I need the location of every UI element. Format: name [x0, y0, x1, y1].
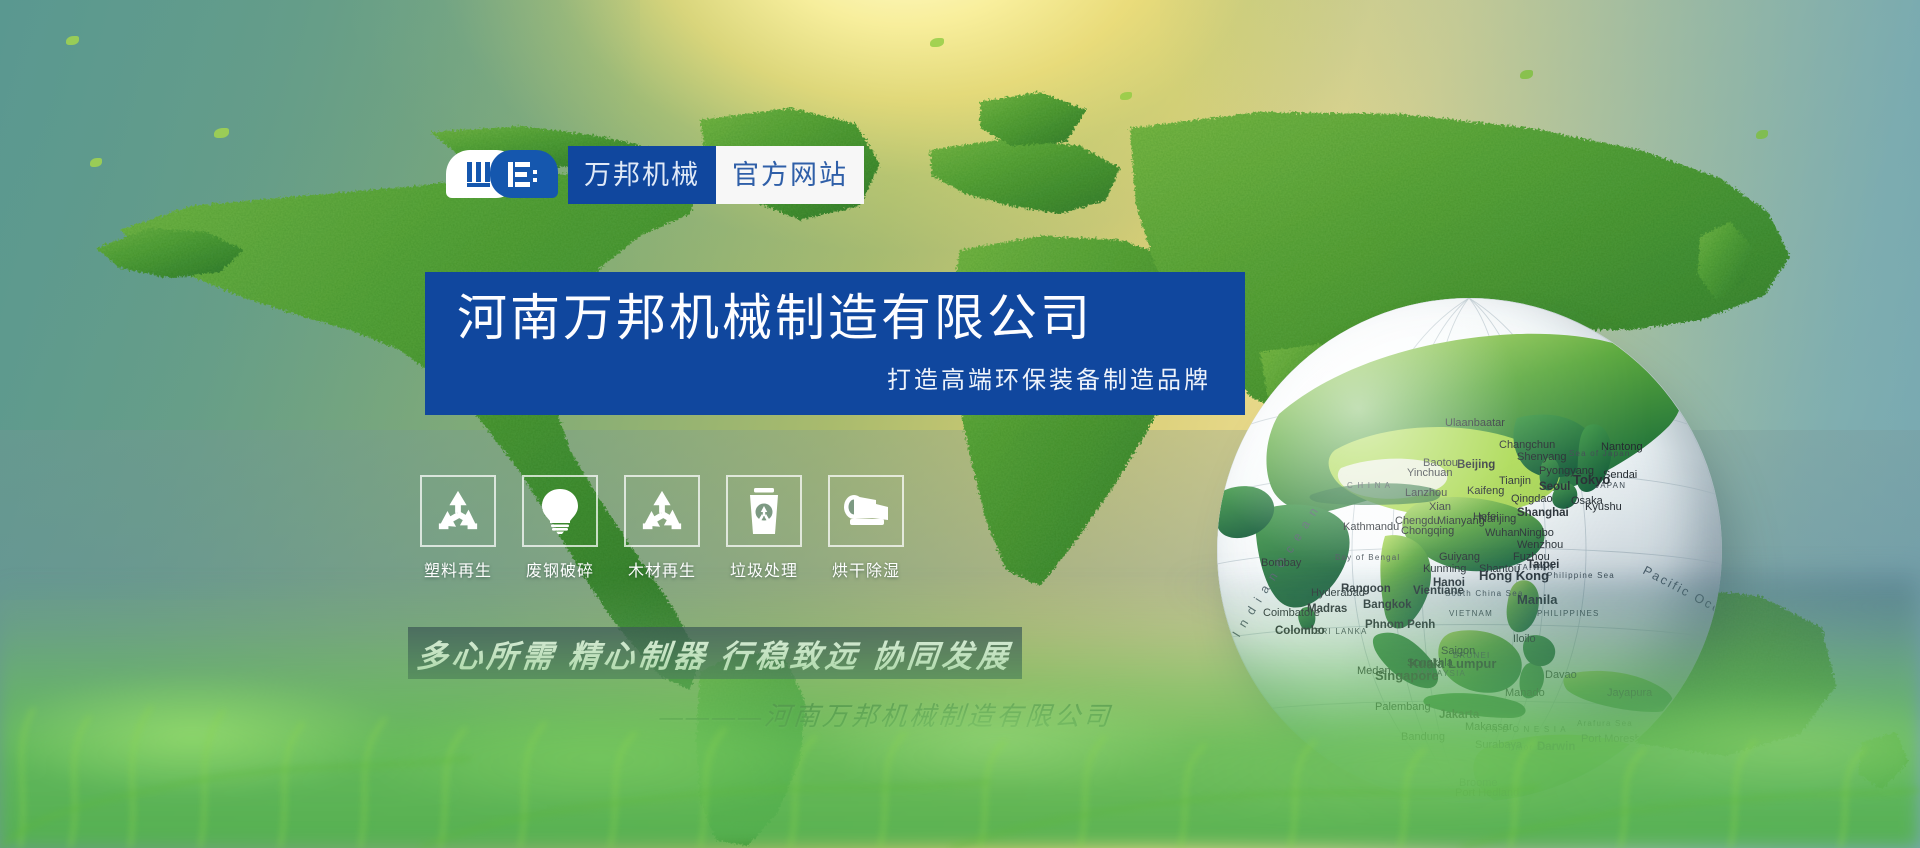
- svg-text:Xian: Xian: [1429, 501, 1451, 513]
- hero-title-panel: 河南万邦机械制造有限公司 打造高端环保装备制造品牌: [425, 272, 1245, 415]
- svg-text:Tianjin: Tianjin: [1499, 475, 1531, 487]
- svg-text:Baotou: Baotou: [1423, 457, 1458, 469]
- feature-item-scrap-steel-crushing[interactable]: 废钢破碎: [522, 475, 598, 581]
- lightbulb-icon: [539, 488, 581, 534]
- feature-icon-row: 塑料再生 废钢破碎: [420, 475, 904, 581]
- promo-banner: 万邦机械 官方网站 河南万邦机械制造有限公司 打造高端环保装备制造品牌 塑料再生: [0, 0, 1920, 848]
- feature-item-plastic-recycling[interactable]: 塑料再生: [420, 475, 496, 581]
- foreground-grass-blades: [0, 598, 1920, 848]
- svg-text:C H I N A: C H I N A: [1347, 481, 1391, 490]
- svg-text:Bombay: Bombay: [1261, 557, 1302, 569]
- svg-text:Kathmandu: Kathmandu: [1343, 521, 1399, 533]
- logo-bar[interactable]: 万邦机械 官方网站: [446, 146, 864, 204]
- svg-text:Lanzhou: Lanzhou: [1405, 487, 1447, 499]
- dryer-blower-icon: [842, 494, 890, 528]
- svg-text:Seoul: Seoul: [1539, 481, 1570, 493]
- svg-text:Nantong: Nantong: [1601, 441, 1643, 453]
- svg-text:Pyongyang: Pyongyang: [1539, 465, 1594, 477]
- svg-text:Shenyang: Shenyang: [1517, 451, 1567, 463]
- svg-text:Guiyang: Guiyang: [1439, 551, 1480, 563]
- feature-icon-box[interactable]: [522, 475, 598, 547]
- page-title: 河南万邦机械制造有限公司: [457, 292, 1211, 345]
- svg-text:Changchun: Changchun: [1499, 439, 1555, 451]
- recycle-icon: [639, 489, 685, 533]
- svg-text:Ulaanbaatar: Ulaanbaatar: [1445, 417, 1505, 429]
- svg-text:Hefei: Hefei: [1473, 511, 1499, 523]
- svg-text:Wuhan: Wuhan: [1485, 527, 1520, 539]
- brand-name-badge[interactable]: 万邦机械: [568, 146, 716, 204]
- page-subtitle: 打造高端环保装备制造品牌: [457, 360, 1211, 395]
- wanbang-chat-bubble-logo[interactable]: [446, 146, 558, 202]
- feature-icon-box[interactable]: [828, 475, 904, 547]
- svg-text:Wenzhou: Wenzhou: [1517, 539, 1563, 551]
- svg-text:Shanghai: Shanghai: [1517, 507, 1569, 519]
- official-site-badge[interactable]: 官方网站: [716, 146, 864, 204]
- svg-text:Kyushu: Kyushu: [1585, 501, 1622, 513]
- svg-text:Fuzhou: Fuzhou: [1513, 551, 1550, 563]
- feature-item-waste-treatment[interactable]: 垃圾处理: [726, 475, 802, 581]
- svg-text:Sendai: Sendai: [1603, 469, 1637, 481]
- trash-bin-icon: [747, 488, 781, 534]
- svg-text:Kunming: Kunming: [1423, 563, 1466, 575]
- svg-text:Shantou: Shantou: [1479, 563, 1520, 575]
- feature-icon-box[interactable]: [624, 475, 700, 547]
- svg-text:Bay of Bengal: Bay of Bengal: [1335, 553, 1400, 562]
- recycle-icon: [435, 489, 481, 533]
- svg-text:Ningbo: Ningbo: [1519, 527, 1554, 539]
- logo-w-glyph: [466, 162, 500, 188]
- svg-text:Chongqing: Chongqing: [1401, 525, 1454, 537]
- feature-icon-box[interactable]: [726, 475, 802, 547]
- feature-item-drying-dehumidifying[interactable]: 烘干除湿: [828, 475, 904, 581]
- logo-e-glyph: [508, 162, 538, 188]
- feature-item-wood-recycling[interactable]: 木材再生: [624, 475, 700, 581]
- svg-text:Beijing: Beijing: [1457, 459, 1495, 471]
- feature-icon-box[interactable]: [420, 475, 496, 547]
- svg-text:Qingdao: Qingdao: [1511, 493, 1553, 505]
